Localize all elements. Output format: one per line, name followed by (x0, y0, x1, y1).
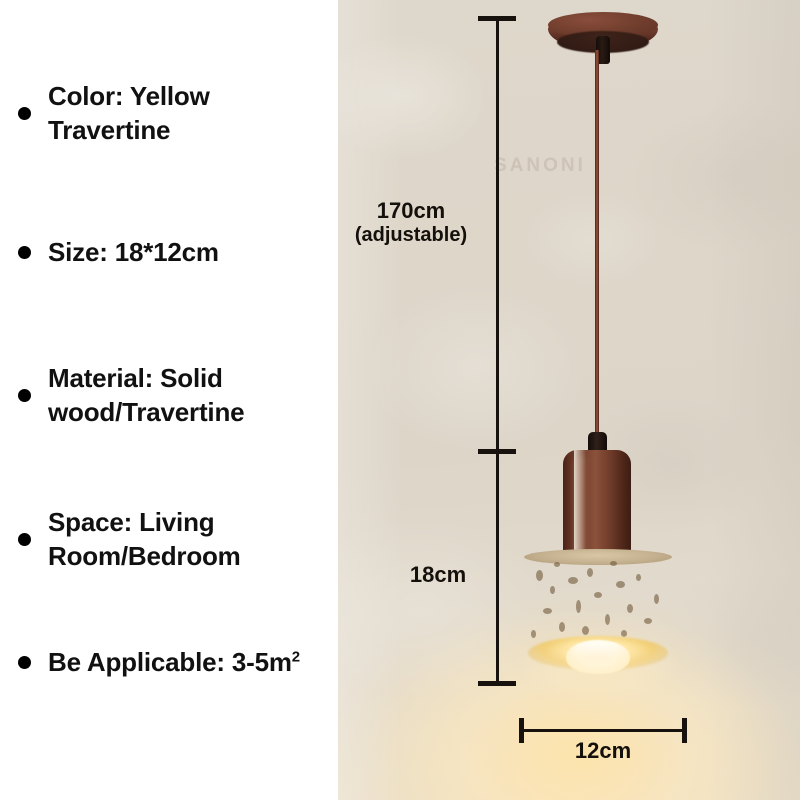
drop-tick-top (478, 16, 516, 21)
spec-item-label: Size: 18*12cm (48, 236, 219, 270)
width-dimension-label: 12cm (545, 738, 661, 764)
spec-item-label: Material: Solid wood/Travertine (48, 362, 333, 430)
spec-item-label: Be Applicable: 3-5m2 (48, 646, 300, 680)
drop-dimension-value: 170cm (377, 198, 446, 223)
width-tick-right (682, 718, 687, 743)
drop-dimension-line (496, 17, 499, 452)
bullet-icon (18, 656, 31, 669)
spec-item-color: Color: Yellow Travertine (18, 80, 333, 148)
height-dimension-line (496, 452, 499, 684)
watermark-text: SANONI (494, 155, 586, 177)
height-tick-bottom (478, 681, 516, 686)
bullet-icon (18, 246, 31, 259)
hanging-cord (595, 50, 599, 452)
spec-item-applicable: Be Applicable: 3-5m2 (18, 646, 333, 680)
drop-dimension-note: (adjustable) (338, 224, 484, 248)
product-photo: SANONI (338, 0, 800, 800)
width-dimension-line (520, 729, 686, 732)
wall-shading (338, 0, 800, 800)
spec-item-size: Size: 18*12cm (18, 236, 333, 270)
bullet-icon (18, 389, 31, 402)
spec-item-material: Material: Solid wood/Travertine (18, 362, 333, 430)
product-spec-image: SANONI (0, 0, 800, 800)
spec-list: Color: Yellow Travertine Size: 18*12cm M… (0, 0, 338, 800)
spec-item-label: Space: Living Room/Bedroom (48, 506, 333, 574)
drop-dimension-label: 170cm (adjustable) (338, 198, 484, 248)
ceiling-canopy (548, 12, 658, 56)
height-dimension-label: 18cm (400, 562, 476, 588)
square-meter-superscript: 2 (292, 648, 300, 665)
bullet-icon (18, 107, 31, 120)
spec-item-space: Space: Living Room/Bedroom (18, 506, 333, 574)
light-bulb (566, 640, 630, 674)
width-tick-left (519, 718, 524, 743)
spec-item-label: Color: Yellow Travertine (48, 80, 333, 148)
socket-highlight (574, 456, 590, 554)
wall-texture (338, 0, 800, 800)
bullet-icon (18, 533, 31, 546)
spec-item-text: Be Applicable: 3-5m (48, 647, 292, 677)
